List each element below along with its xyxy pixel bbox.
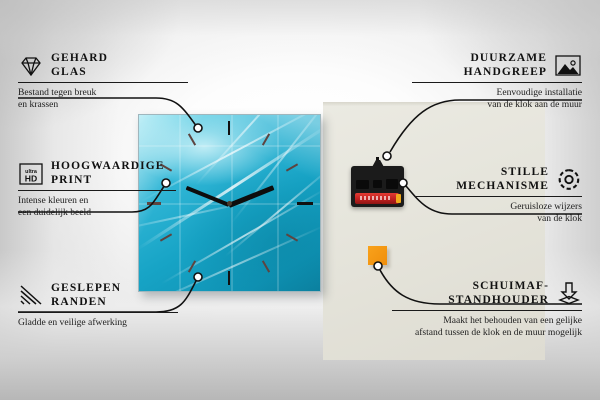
feature-geslepen-randen: GESLEPEN RANDEN Gladde en veilige afwerk… — [18, 282, 178, 329]
feature-desc-line2: en krassen — [18, 99, 188, 111]
feature-stille-mechanisme: STILLE MECHANISME Geruisloze wijzers van… — [412, 166, 582, 224]
gear-icon — [556, 167, 582, 192]
feature-header: ultra HD HOOGWAARDIGE PRINT — [18, 160, 168, 187]
feature-desc-line2: afstand tussen de klok en de muur mogeli… — [378, 327, 582, 339]
feature-title-line1: GESLEPEN — [51, 282, 121, 296]
feature-divider — [18, 312, 178, 313]
feature-divider — [412, 82, 582, 83]
feature-schuimafstandhouder: SCHUIMAF- STANDHOUDER Maakt het behouden… — [378, 280, 582, 338]
feature-desc-line1: Eenvoudige installatie — [402, 87, 582, 99]
feature-title-line1: DUURZAME — [464, 52, 547, 66]
picture-frame-icon — [554, 54, 582, 77]
feature-desc-line1: Bestand tegen breuk — [18, 87, 188, 99]
feature-divider — [18, 190, 176, 191]
diamond-icon — [18, 55, 44, 77]
feature-title-line1: SCHUIMAF- — [448, 280, 549, 294]
feature-title-line2: GLAS — [51, 66, 108, 80]
feature-title-line2: MECHANISME — [456, 180, 549, 194]
feature-header: STILLE MECHANISME — [412, 166, 582, 193]
svg-text:HD: HD — [25, 173, 37, 183]
feature-title-line1: HOOGWAARDIGE — [51, 160, 165, 174]
feature-divider — [18, 82, 188, 83]
infographic-canvas: GEHARD GLAS Bestand tegen breuk en krass… — [0, 0, 600, 400]
feature-header: GEHARD GLAS — [18, 52, 188, 79]
feature-title-line2: PRINT — [51, 174, 165, 188]
feature-desc-line1: Gladde en veilige afwerking — [18, 317, 178, 329]
feature-duurzame-handgreep: DUURZAME HANDGREEP Eenvoudige installati… — [402, 52, 582, 110]
feature-gehard-glas: GEHARD GLAS Bestand tegen breuk en krass… — [18, 52, 188, 110]
feature-title-line2: STANDHOUDER — [448, 294, 549, 308]
bevelled-edge-icon — [18, 285, 44, 307]
feature-desc-line2: een duidelijk beeld — [18, 207, 168, 219]
feature-desc-line1: Maakt het behouden van een gelijke — [378, 315, 582, 327]
feature-title-line2: RANDEN — [51, 296, 121, 310]
feature-header: GESLEPEN RANDEN — [18, 282, 178, 309]
feature-desc-line1: Intense kleuren en — [18, 195, 168, 207]
feature-divider — [416, 196, 582, 197]
down-arrow-stack-icon — [556, 281, 582, 306]
feature-title-line1: GEHARD — [51, 52, 108, 66]
feature-divider — [392, 310, 582, 311]
feature-header: SCHUIMAF- STANDHOUDER — [378, 280, 582, 307]
feature-title-line1: STILLE — [456, 166, 549, 180]
feature-desc-line2: van de klok aan de muur — [402, 99, 582, 111]
feature-desc-line2: van de klok — [412, 213, 582, 225]
feature-title-line2: HANDGREEP — [464, 66, 547, 80]
feature-header: DUURZAME HANDGREEP — [402, 52, 582, 79]
feature-desc-line1: Geruisloze wijzers — [412, 201, 582, 213]
feature-hoogwaardige-print: ultra HD HOOGWAARDIGE PRINT Intense kleu… — [18, 160, 168, 218]
ultra-hd-icon: ultra HD — [18, 162, 44, 186]
